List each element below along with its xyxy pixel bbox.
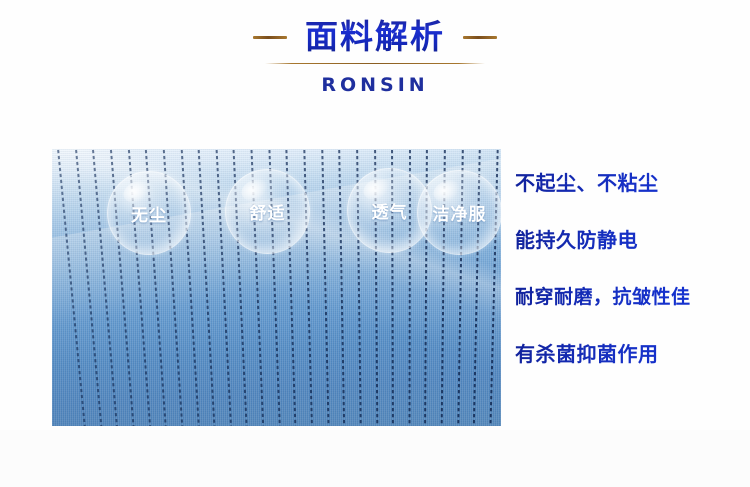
header-divider <box>265 63 485 64</box>
footer-whitespace <box>0 430 750 487</box>
page-header: 面料解析 RONSIN <box>0 0 750 110</box>
dash-right-icon <box>463 36 497 39</box>
feature-item-1: 不起尘、不粘尘 <box>515 170 740 227</box>
fabric-stripe <box>74 149 104 426</box>
fabric-stripe <box>56 149 88 426</box>
feature-list: 不起尘、不粘尘 能持久防静电 耐穿耐磨，抗皱性佳 有杀菌抑菌作用 <box>515 170 740 398</box>
feature-item-2: 能持久防静电 <box>515 227 740 284</box>
fabric-stripe <box>197 149 217 426</box>
bubble-label: 无尘 <box>131 201 167 226</box>
title-row: 面料解析 <box>0 14 750 60</box>
feature-item-3: 耐穿耐磨，抗皱性佳 <box>515 284 740 341</box>
bubble-label: 透气 <box>372 198 408 223</box>
bubble-label: 洁净服 <box>433 200 487 225</box>
feature-item-4: 有杀菌抑菌作用 <box>515 341 740 398</box>
fabric-photo: 无尘 舒适 透气 洁净服 <box>52 149 501 426</box>
bubble-wuchen: 无尘 <box>107 171 191 255</box>
fabric-stripe <box>321 149 330 426</box>
page-title: 面料解析 <box>305 15 445 59</box>
bubble-shushi: 舒适 <box>225 169 310 254</box>
bubble-label: 舒适 <box>250 199 286 224</box>
bubble-jiejingfu: 洁净服 <box>417 170 501 255</box>
brand-name: RONSIN <box>0 74 750 96</box>
fabric-stripe <box>338 149 346 426</box>
page-root: 面料解析 RONSIN 无尘 舒适 透气 洁净服 不起尘、不粘尘 能持久防静电 … <box>0 0 750 487</box>
dash-left-icon <box>253 36 287 39</box>
